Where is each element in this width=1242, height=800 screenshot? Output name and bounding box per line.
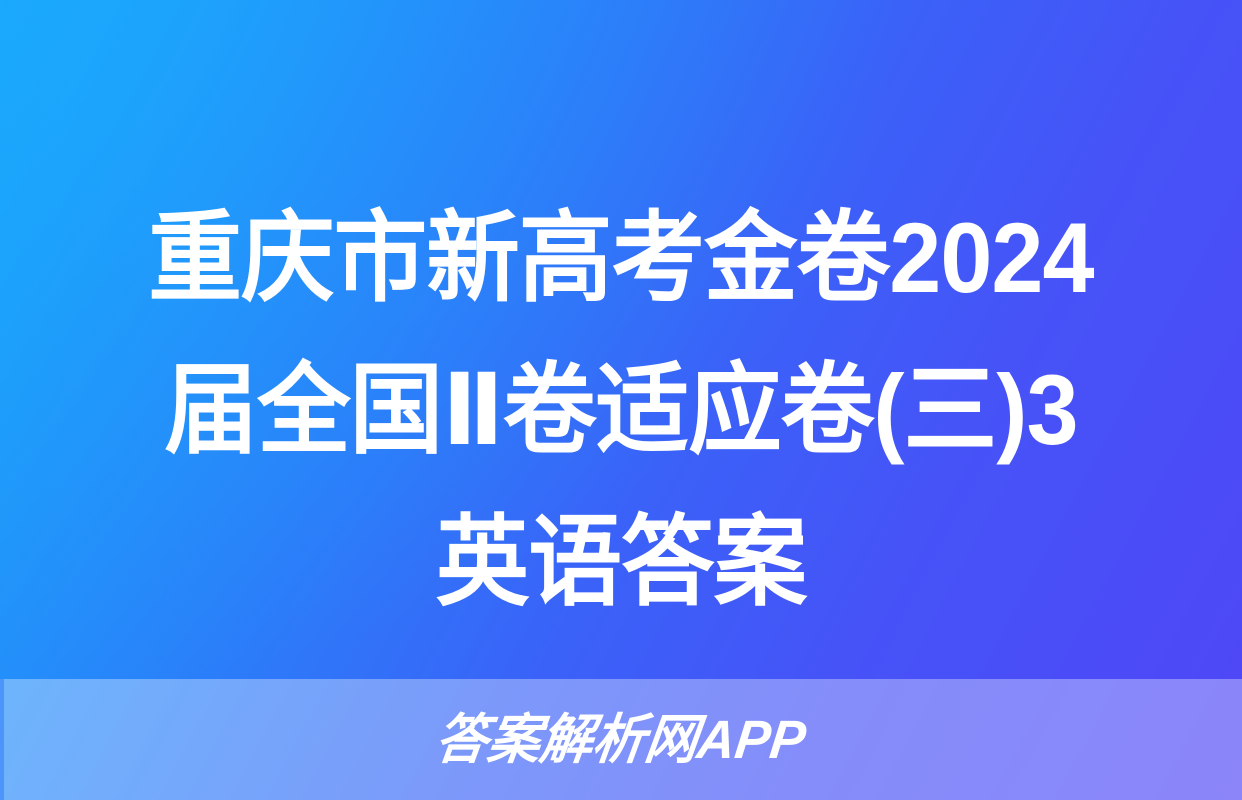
headline-line-3: 英语答案 — [57, 486, 1185, 638]
band-edge-stripe — [0, 679, 4, 800]
gradient-title-card: 重庆市新高考金卷2024 届全国Ⅱ卷适应卷(三)3 英语答案 答案解析网APP — [0, 0, 1242, 800]
headline-block: 重庆市新高考金卷2024 届全国Ⅱ卷适应卷(三)3 英语答案 — [0, 182, 1242, 638]
watermark-band: 答案解析网APP — [0, 679, 1242, 800]
headline-line-2: 届全国Ⅱ卷适应卷(三)3 — [57, 334, 1185, 486]
headline-line-1: 重庆市新高考金卷2024 — [57, 182, 1185, 334]
watermark-label: 答案解析网APP — [433, 713, 809, 767]
